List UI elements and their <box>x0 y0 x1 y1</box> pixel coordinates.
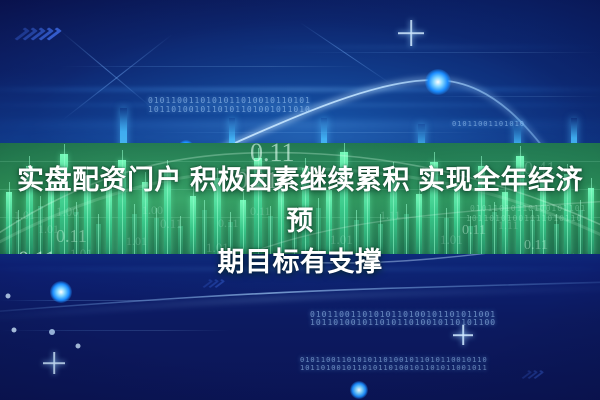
headline-line-2: 期目标有支撑 <box>6 242 594 283</box>
headline-line-1: 实盘配资门户 积极因素继续累积 实现全年经济预 <box>17 165 583 236</box>
banner-image: 0101100110101011010010110101101101001011… <box>0 0 600 400</box>
page-title: 实盘配资门户 积极因素继续累积 实现全年经济预 期目标有支撑 <box>0 160 600 283</box>
